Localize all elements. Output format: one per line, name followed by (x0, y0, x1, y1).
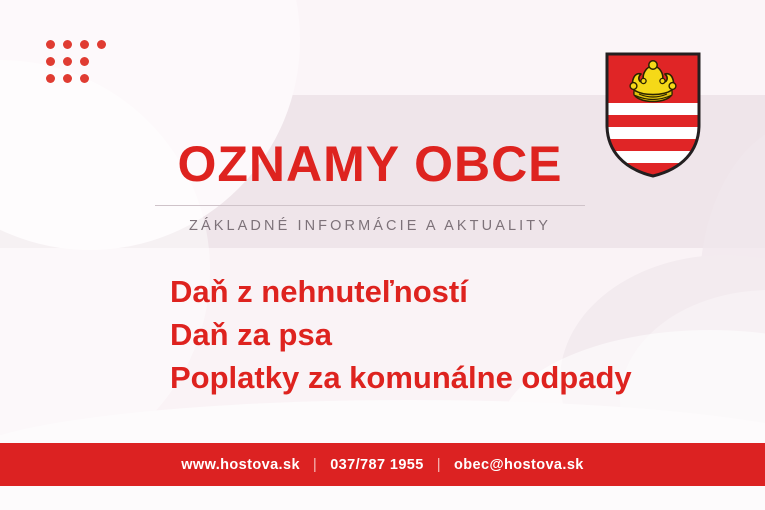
dot (80, 40, 89, 49)
dot (80, 74, 89, 83)
dot (46, 57, 55, 66)
dot (97, 40, 106, 49)
page-title: OZNAMY OBCE (155, 138, 585, 191)
footer-contact-bar: www.hostova.sk | 037/787 1955 | obec@hos… (0, 443, 765, 486)
footer-separator: | (437, 456, 441, 473)
list-item: Daň z nehnuteľností (170, 270, 632, 313)
poster-header: OZNAMY OBCE ZÁKLADNÉ INFORMÁCIE A AKTUAL… (155, 138, 585, 234)
footer-email[interactable]: obec@hostova.sk (454, 457, 584, 473)
list-item: Poplatky za komunálne odpady (170, 356, 632, 399)
dot (80, 57, 89, 66)
dot (63, 74, 72, 83)
list-item: Daň za psa (170, 313, 632, 356)
footer-contact-line: www.hostova.sk | 037/787 1955 | obec@hos… (181, 456, 584, 473)
page-subtitle: ZÁKLADNÉ INFORMÁCIE A AKTUALITY (155, 218, 585, 234)
poster-canvas: OZNAMY OBCE ZÁKLADNÉ INFORMÁCIE A AKTUAL… (0, 0, 765, 510)
dot (63, 40, 72, 49)
dot-grid-icon (46, 40, 114, 91)
dot (46, 40, 55, 49)
footer-separator: | (313, 456, 317, 473)
title-divider (155, 205, 585, 206)
dot (63, 57, 72, 66)
dot (46, 74, 55, 83)
footer-website[interactable]: www.hostova.sk (181, 457, 300, 473)
footer-phone[interactable]: 037/787 1955 (330, 457, 424, 473)
notice-list: Daň z nehnuteľností Daň za psa Poplatky … (170, 270, 632, 399)
coat-of-arms-shield-icon (604, 51, 702, 179)
